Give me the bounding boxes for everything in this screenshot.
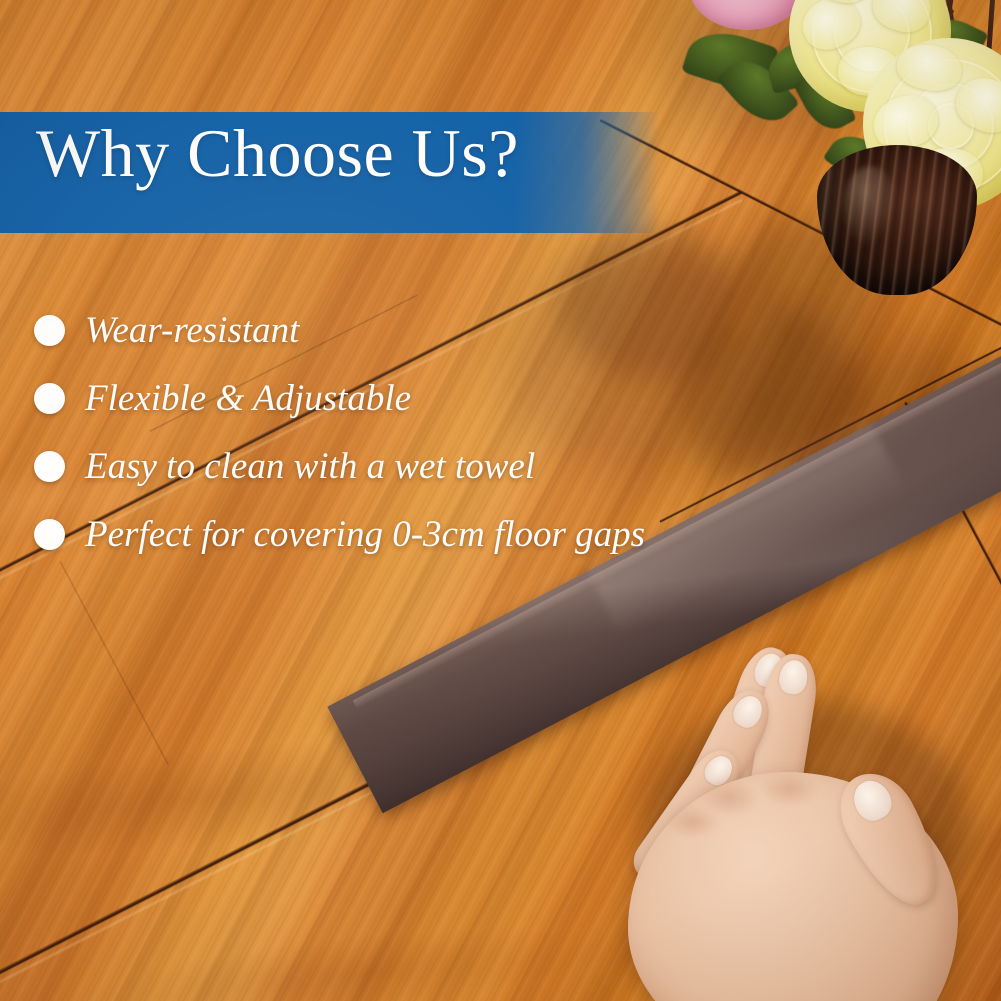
list-item: Flexible & Adjustable (34, 364, 754, 432)
vase-rib-texture (817, 145, 977, 295)
feature-list: Wear-resistant Flexible & Adjustable Eas… (34, 296, 754, 568)
knuckle-shading (760, 772, 818, 806)
feature-label: Easy to clean with a wet towel (85, 448, 535, 485)
feature-label: Wear-resistant (85, 312, 299, 349)
product-marketing-image: Why Choose Us? Wear-resistant Flexible &… (0, 0, 1001, 1001)
bullet-dot-icon (34, 315, 65, 346)
fingernail (729, 691, 768, 732)
feature-label: Perfect for covering 0-3cm floor gaps (85, 516, 645, 553)
glass-vase (817, 145, 977, 295)
pink-rose-flower (689, 0, 805, 30)
feature-label: Flexible & Adjustable (85, 380, 411, 417)
flower-bouquet (677, 0, 1001, 290)
page-title: Why Choose Us? (36, 119, 519, 187)
vase-highlight (843, 166, 897, 247)
bullet-dot-icon (34, 519, 65, 550)
list-item: Perfect for covering 0-3cm floor gaps (34, 500, 754, 568)
knuckle-shading (666, 806, 720, 838)
fingernail (777, 658, 810, 696)
list-item: Easy to clean with a wet towel (34, 432, 754, 500)
bullet-dot-icon (34, 383, 65, 414)
thumbnail (847, 774, 898, 826)
list-item: Wear-resistant (34, 296, 754, 364)
bullet-dot-icon (34, 451, 65, 482)
